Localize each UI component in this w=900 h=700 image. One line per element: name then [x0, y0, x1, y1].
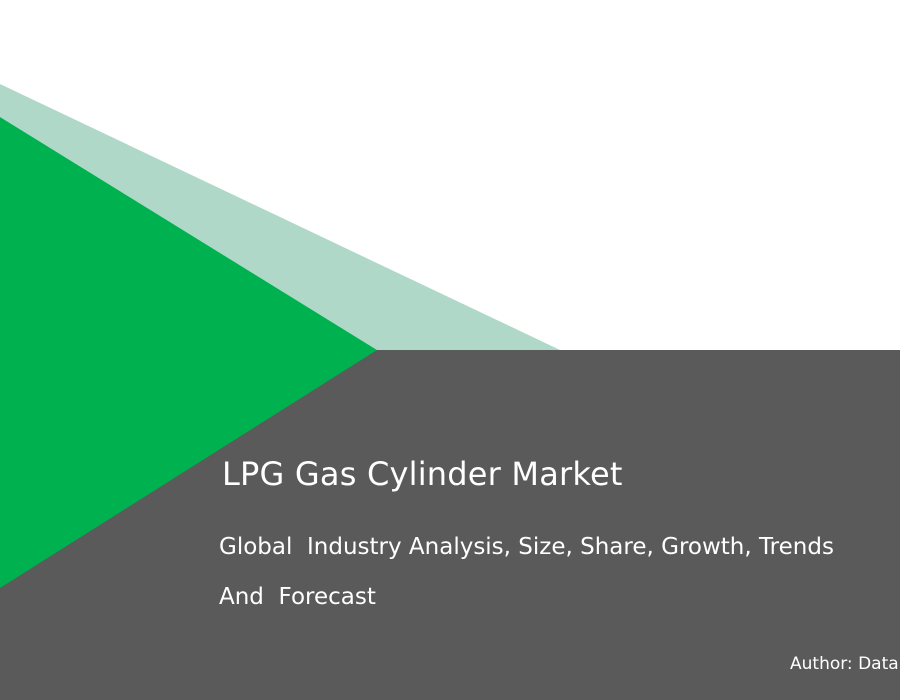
page-title: LPG Gas Cylinder Market: [222, 454, 623, 494]
author-label: Author: Data: [790, 653, 899, 675]
page-subtitle: Global Industry Analysis, Size, Share, G…: [219, 522, 834, 622]
page-subtitle-line-1: Global Industry Analysis, Size, Share, G…: [219, 522, 834, 572]
cover-text-block: LPG Gas Cylinder Market Global Industry …: [0, 350, 900, 700]
report-cover-slide: LPG Gas Cylinder Market Global Industry …: [0, 0, 900, 700]
page-subtitle-line-2: And Forecast: [219, 572, 834, 622]
